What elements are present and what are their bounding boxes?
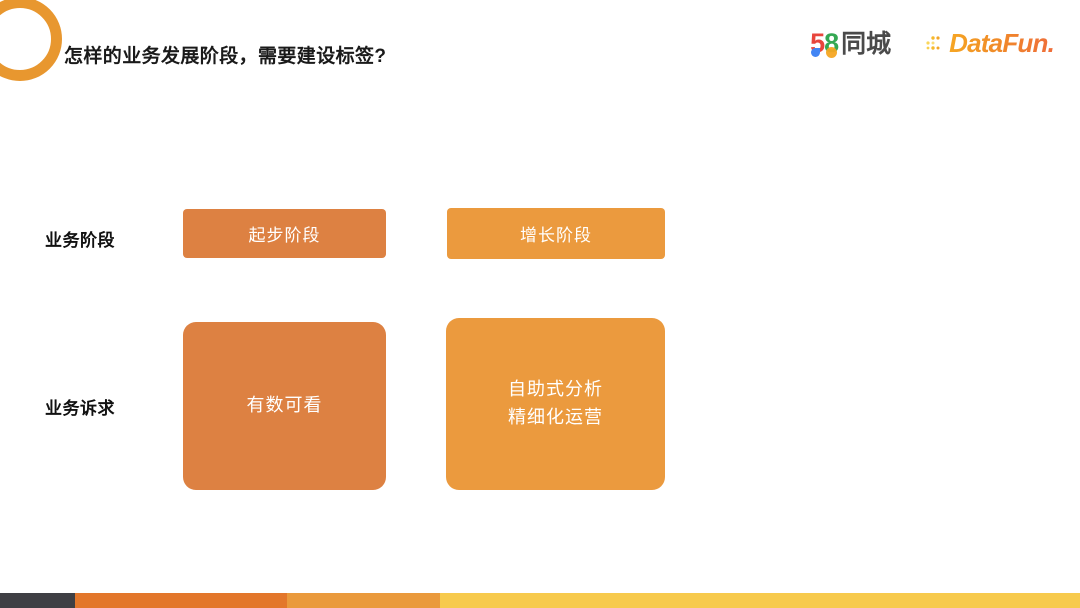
decorative-ring-icon xyxy=(0,0,62,81)
demand-card-line1: 自助式分析 xyxy=(508,376,603,404)
demand-card-mature: 精细化运营 智能诊断 xyxy=(724,320,927,490)
logo-58-cn-text: 同城 xyxy=(841,32,891,57)
bottom-bar-segment-3 xyxy=(287,593,440,608)
demand-card-line1: 有数可看 xyxy=(247,392,323,420)
demand-card-line1: 精细化运营 xyxy=(778,377,873,405)
bottom-bar-segment-4 xyxy=(440,593,1080,608)
row-label-business-stage: 业务阶段 xyxy=(45,226,115,251)
stage-pill-mature: 成熟阶段 xyxy=(724,211,927,262)
demand-card-line2: 精细化运营 xyxy=(508,404,603,432)
demand-card-growth: 自助式分析 精细化运营 xyxy=(446,318,665,490)
row-label-business-demand: 业务诉求 xyxy=(45,394,115,419)
demand-card-line2: 智能诊断 xyxy=(788,405,864,433)
logo-datafun: DataFun. xyxy=(925,28,1054,59)
demand-card-startup: 有数可看 xyxy=(183,322,386,490)
bottom-bar-segment-1 xyxy=(0,593,75,608)
logo-58tongcheng: 5 8 同城 xyxy=(810,30,891,57)
stage-pill-startup: 起步阶段 xyxy=(183,209,386,258)
logo-area: 5 8 同城 DataFun. xyxy=(810,26,1054,60)
logo-datafun-dots-icon xyxy=(925,32,947,54)
logo-datafun-wordmark: DataFun. xyxy=(949,28,1054,59)
stage-pill-growth: 增长阶段 xyxy=(447,208,665,259)
bottom-color-bar xyxy=(0,593,1080,608)
logo-58-digit-8: 8 xyxy=(824,30,838,57)
slide-canvas: 怎样的业务发展阶段，需要建设标签? 5 8 同城 DataFun. 业务阶段 业… xyxy=(0,0,1080,608)
bottom-bar-segment-2 xyxy=(75,593,287,608)
logo-58-digit-5: 5 xyxy=(810,30,824,57)
page-title: 怎样的业务发展阶段，需要建设标签? xyxy=(64,41,386,68)
